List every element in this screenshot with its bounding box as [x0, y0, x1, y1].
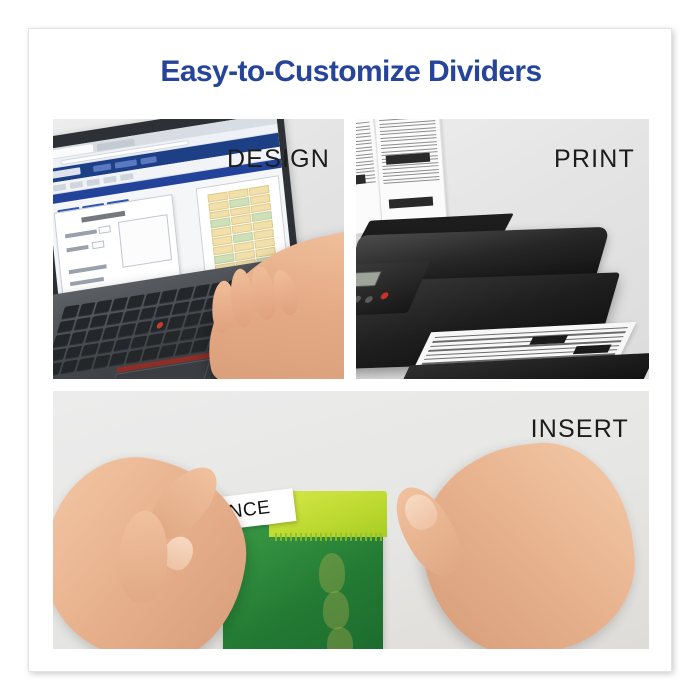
dialog-field-label	[65, 229, 97, 238]
panel-print: PRINT	[356, 119, 649, 379]
divider-body	[223, 525, 383, 649]
panel-design: DESIGN	[53, 119, 344, 379]
printer-button[interactable]	[364, 296, 374, 303]
tab-stitching	[275, 533, 383, 541]
panel-insert: FINANCE INSERT	[53, 391, 649, 649]
dialog-input	[92, 240, 105, 249]
panel-label-print: PRINT	[554, 145, 635, 174]
printer-power-button[interactable]	[379, 292, 389, 299]
dialog-field-label	[66, 245, 88, 252]
finger-behind-divider	[319, 553, 345, 593]
index-finger	[117, 510, 170, 604]
printer-button[interactable]	[356, 296, 362, 303]
dialog-field-label	[70, 277, 104, 286]
dialog-field-label	[69, 264, 107, 274]
dialog-preview-box	[118, 214, 172, 268]
finger-behind-divider	[323, 591, 349, 629]
finger-behind-divider	[327, 627, 353, 649]
printer-illustration	[356, 145, 649, 379]
sheet-text-lines	[379, 119, 443, 232]
panel-label-insert: INSERT	[531, 415, 629, 444]
dialog-input	[98, 225, 111, 234]
page-title: Easy-to-Customize Dividers	[29, 55, 673, 89]
product-info-card: Easy-to-Customize Dividers	[28, 28, 672, 672]
divider-with-tab: FINANCE	[223, 487, 393, 649]
printer-lcd-display	[356, 271, 382, 288]
panel-label-design: DESIGN	[227, 145, 330, 174]
